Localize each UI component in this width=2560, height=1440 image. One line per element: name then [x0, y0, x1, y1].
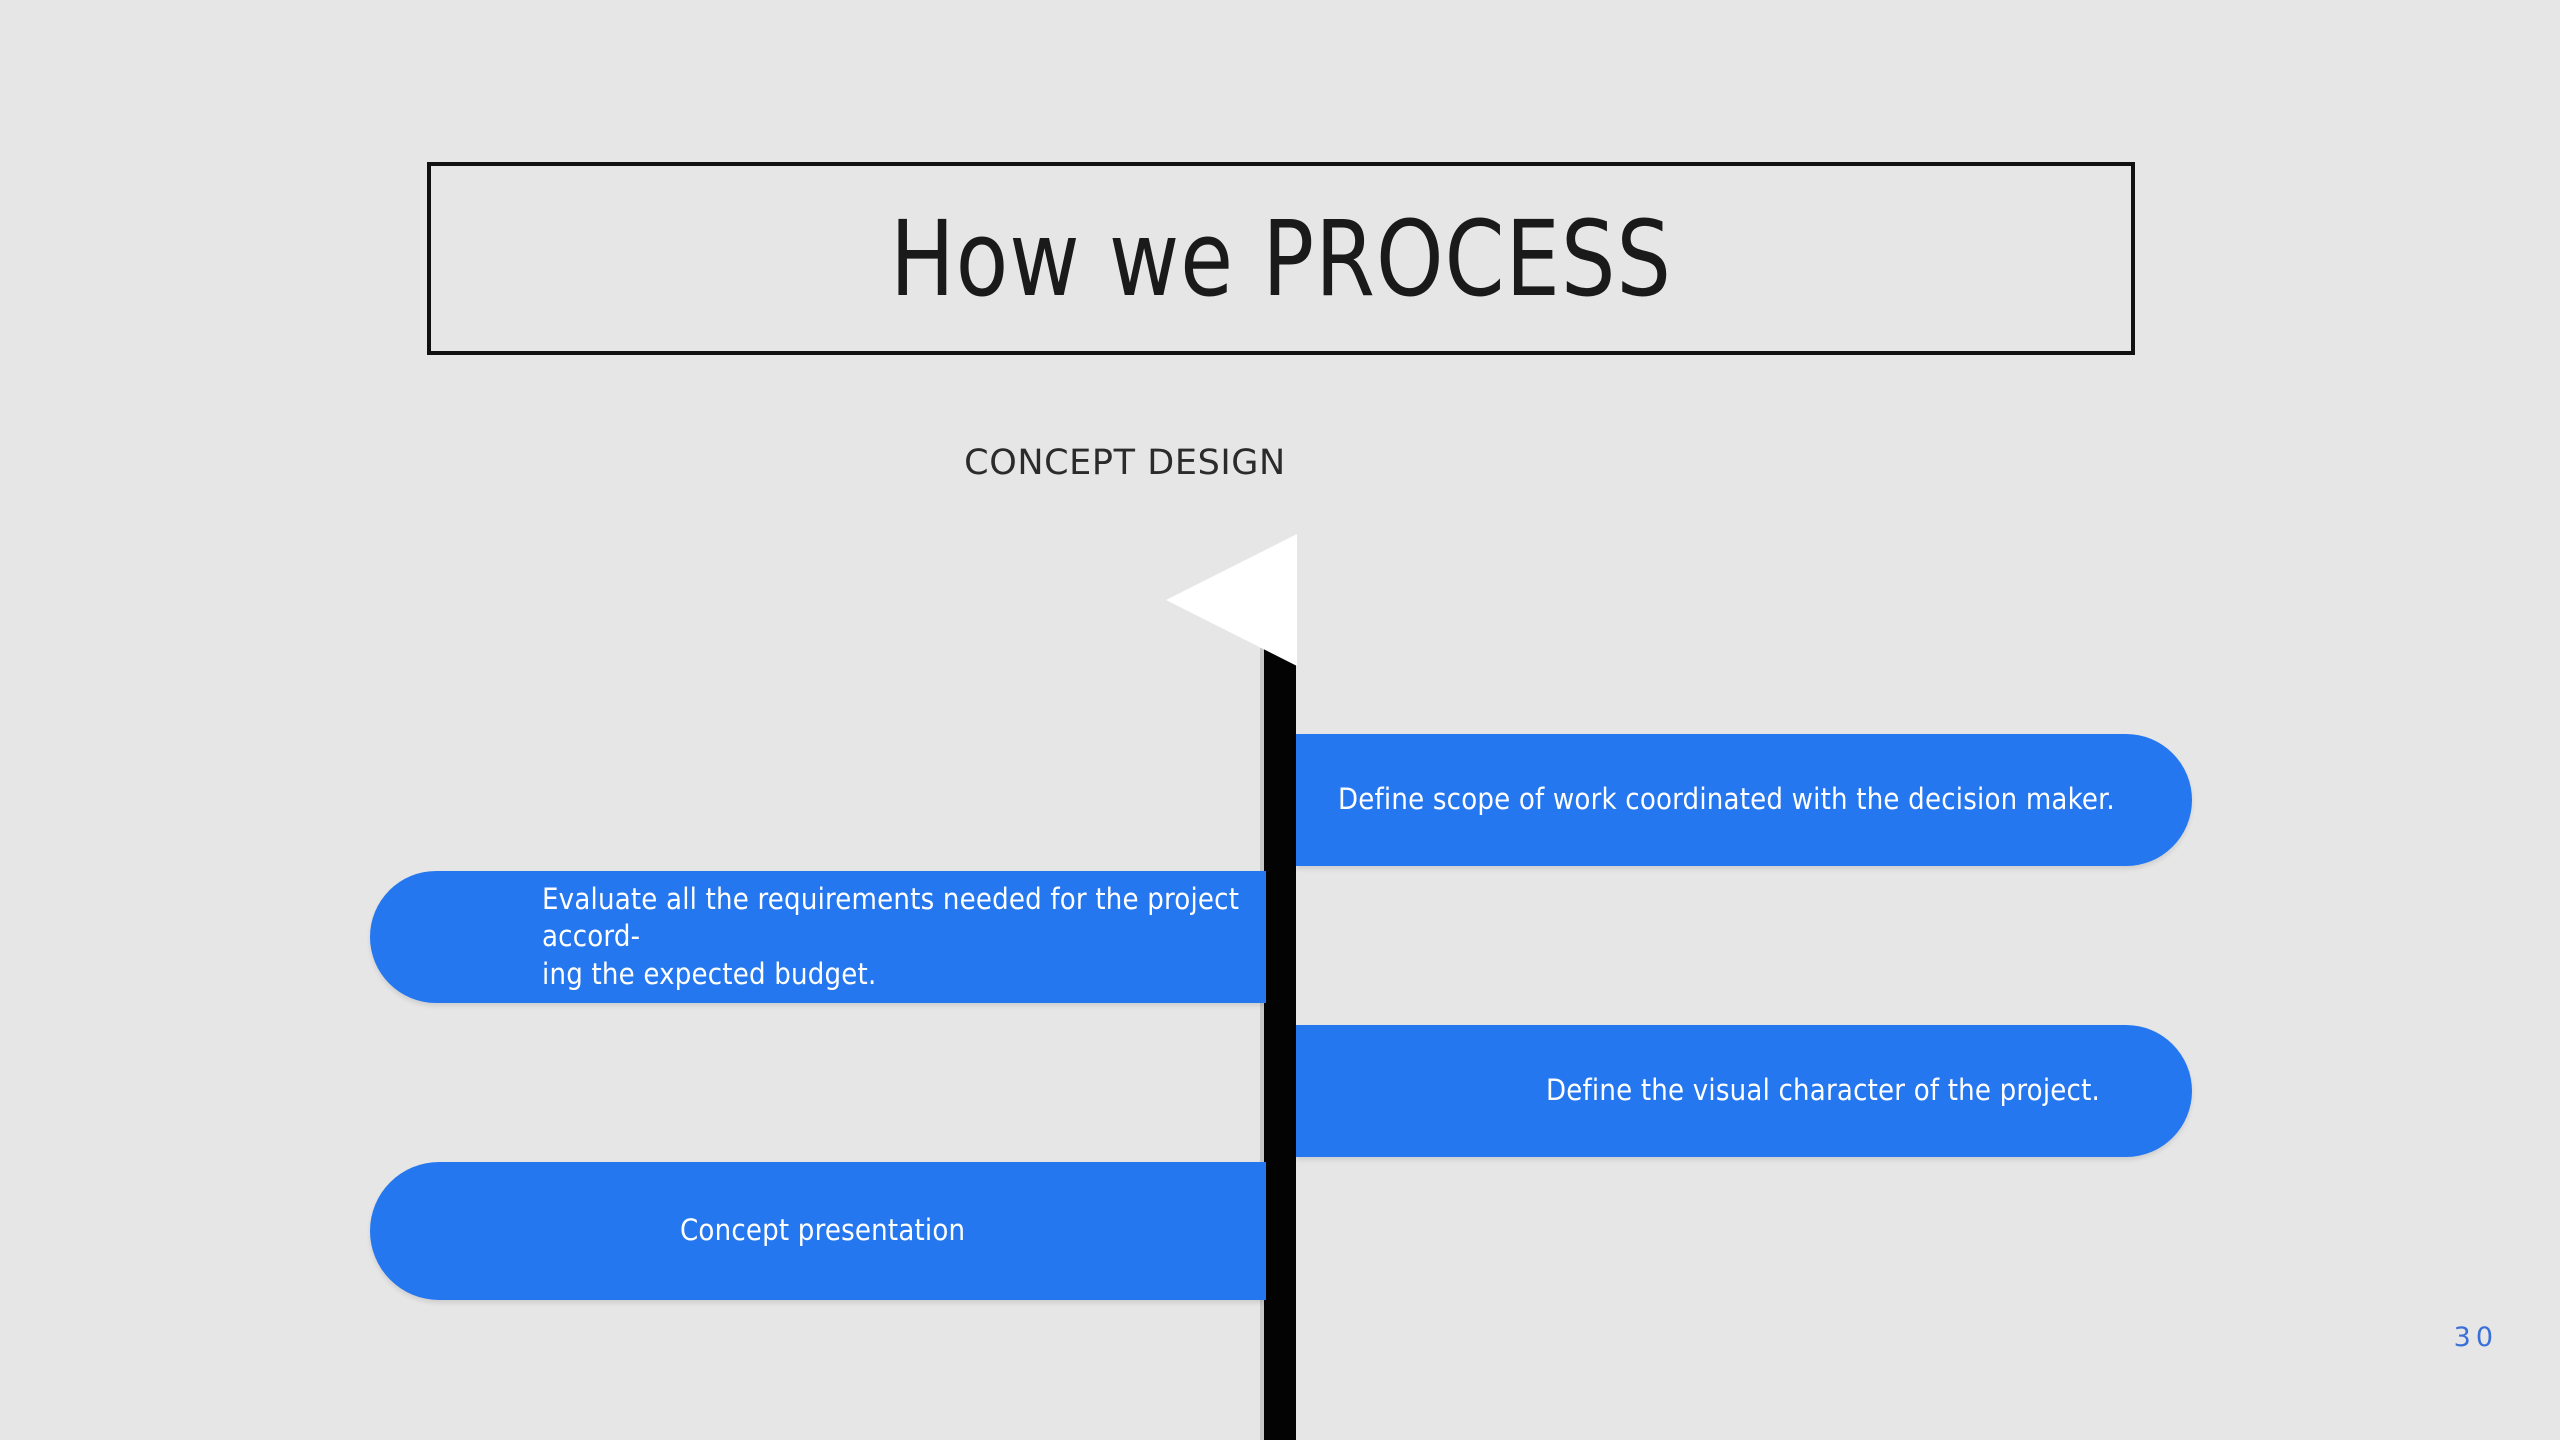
step-pill-4-label: Concept presentation — [680, 1212, 965, 1249]
section-subtitle: CONCEPT DESIGN — [964, 443, 1286, 483]
title-box: How we PROCESS — [427, 162, 2135, 355]
subtitle-container: CONCEPT DESIGN — [0, 443, 2560, 483]
page-title: How we PROCESS — [890, 207, 1672, 311]
timeline-pole — [1264, 648, 1296, 1440]
step-pill-2-label: Evaluate all the requirements needed for… — [542, 881, 1266, 992]
slide-canvas: How we PROCESS CONCEPT DESIGN Define sco… — [0, 0, 2560, 1440]
page-number: 30 — [2454, 1322, 2498, 1353]
triangle-flag-icon — [1166, 534, 1297, 666]
step-pill-4[interactable]: Concept presentation — [370, 1162, 1266, 1300]
step-pill-3[interactable]: Define the visual character of the proje… — [1296, 1025, 2192, 1157]
step-pill-1-label: Define scope of work coordinated with th… — [1338, 781, 2115, 818]
step-pill-2[interactable]: Evaluate all the requirements needed for… — [370, 871, 1266, 1003]
step-pill-1[interactable]: Define scope of work coordinated with th… — [1296, 734, 2192, 866]
step-pill-3-label: Define the visual character of the proje… — [1546, 1072, 2100, 1109]
